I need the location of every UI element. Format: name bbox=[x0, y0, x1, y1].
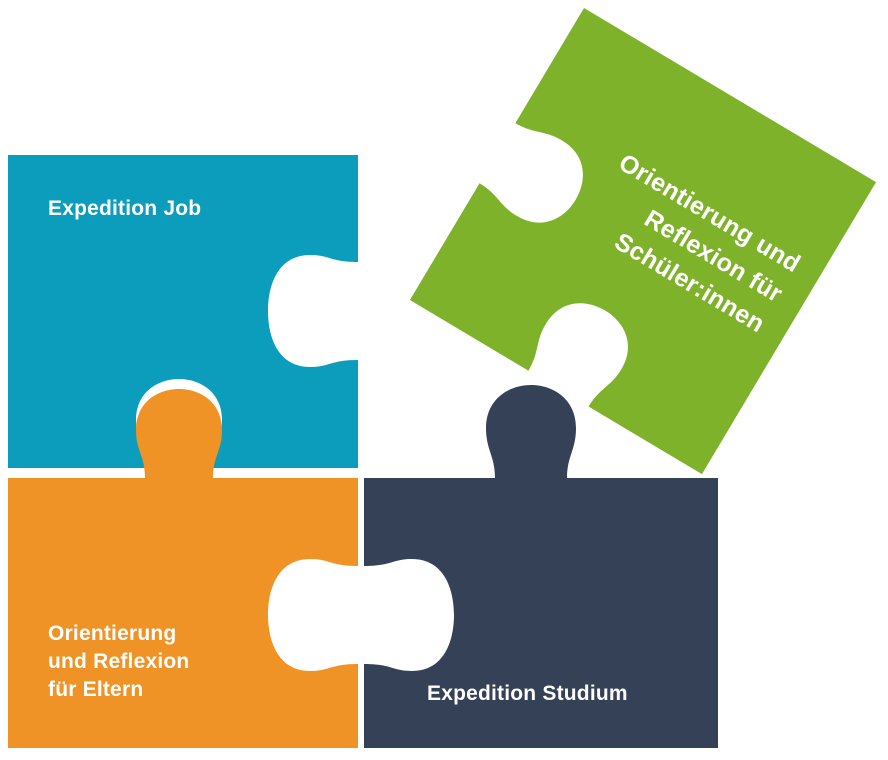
orientierung-eltern-label-line-2: und Reflexion bbox=[48, 650, 189, 673]
puzzle-canvas: Expedition Job Orientierung und Reflexio… bbox=[0, 0, 888, 760]
expedition-job-label: Expedition Job bbox=[48, 197, 201, 220]
expedition-studium-label: Expedition Studium bbox=[427, 682, 628, 705]
orientierung-eltern-label-line-3: für Eltern bbox=[48, 678, 143, 701]
puzzle-diagram: Expedition Job Orientierung und Reflexio… bbox=[0, 0, 888, 760]
orientierung-eltern-label-line-1: Orientierung bbox=[48, 622, 176, 645]
